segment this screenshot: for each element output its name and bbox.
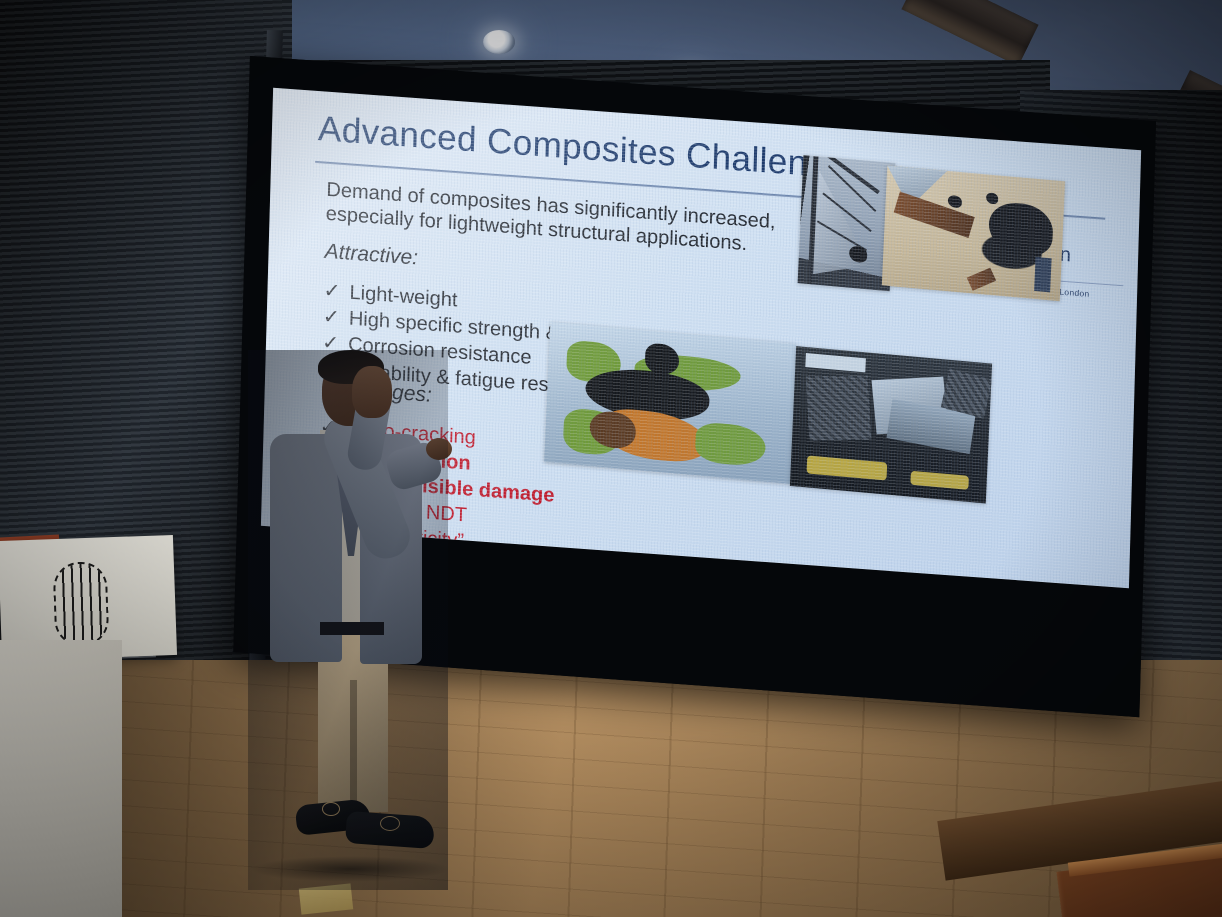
green-paint bbox=[695, 421, 767, 467]
debris-small bbox=[948, 195, 963, 208]
attractive-heading: Attractive: bbox=[324, 240, 418, 271]
presenter bbox=[248, 350, 448, 890]
composite-debris bbox=[988, 201, 1054, 259]
broken-beam-2 bbox=[967, 268, 997, 291]
sailing-rig-photo bbox=[798, 155, 896, 291]
presentation-photo-scene: Advanced Composites Challenges Demand of… bbox=[0, 0, 1222, 917]
check-icon: ✓ bbox=[323, 278, 350, 306]
podium-front-panel bbox=[0, 640, 122, 917]
broken-beam bbox=[894, 192, 975, 238]
check-icon: ✓ bbox=[322, 304, 349, 332]
podium-vent-oval-icon bbox=[53, 561, 110, 647]
yellow-trim bbox=[806, 455, 887, 480]
crushed-carbon-photo bbox=[790, 346, 992, 503]
damaged-wing-photo bbox=[544, 322, 796, 484]
presenter-shading bbox=[248, 350, 448, 890]
blue-object bbox=[1034, 257, 1052, 292]
carbon-weave bbox=[806, 376, 872, 441]
broken-mast-photo bbox=[882, 165, 1065, 301]
highlight-strip bbox=[805, 353, 866, 372]
debris-small bbox=[986, 192, 998, 204]
yellow-trim bbox=[910, 471, 969, 490]
